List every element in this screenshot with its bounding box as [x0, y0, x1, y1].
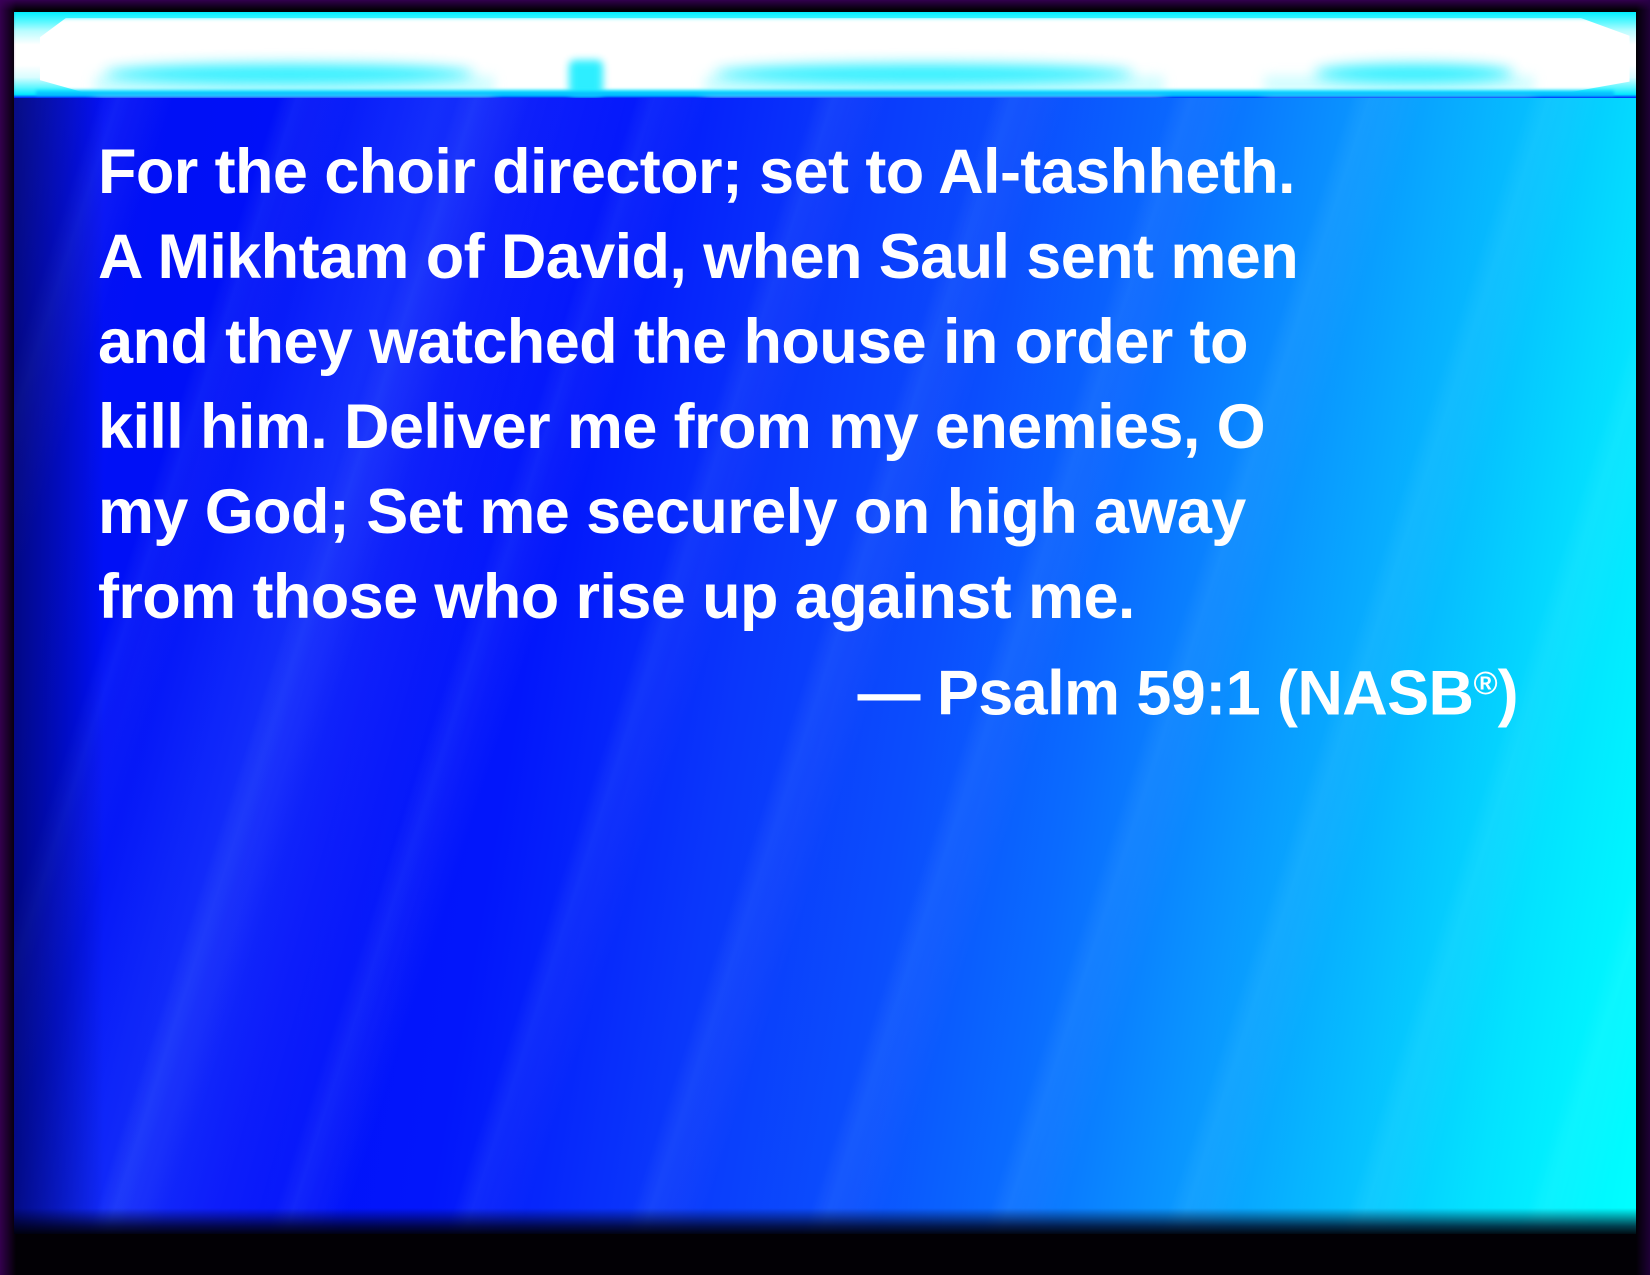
verse-line: kill him. Deliver me from my enemies, O [98, 385, 1518, 470]
verse-line: A Mikhtam of David, when Saul sent men [98, 215, 1518, 300]
verse-line: from those who rise up against me. [98, 555, 1518, 640]
reference-book: Psalm [937, 658, 1120, 728]
reference-chapter-verse: 59:1 [1136, 658, 1260, 728]
verse-line: For the choir director; set to Al-tashhe… [98, 130, 1518, 215]
registered-trademark-icon: ® [1473, 664, 1497, 701]
verse-reference: — Psalm 59:1 (NASB®) [98, 640, 1518, 736]
reference-space-2 [1119, 658, 1136, 728]
verse-line: my God; Set me securely on high away [98, 470, 1518, 555]
reference-dash: — [858, 658, 920, 728]
reference-space-3 [1260, 658, 1277, 728]
reference-open-paren: ( [1277, 658, 1297, 728]
verse-text-block: For the choir director; set to Al-tashhe… [98, 130, 1518, 640]
reference-space [920, 658, 937, 728]
verse-line: and they watched the house in order to [98, 300, 1518, 385]
reference-close-paren: ) [1498, 658, 1518, 728]
slide-panel: For the choir director; set to Al-tashhe… [14, 12, 1636, 1234]
reference-translation: NASB [1297, 658, 1473, 728]
scripture-slide: For the choir director; set to Al-tashhe… [0, 0, 1650, 1275]
